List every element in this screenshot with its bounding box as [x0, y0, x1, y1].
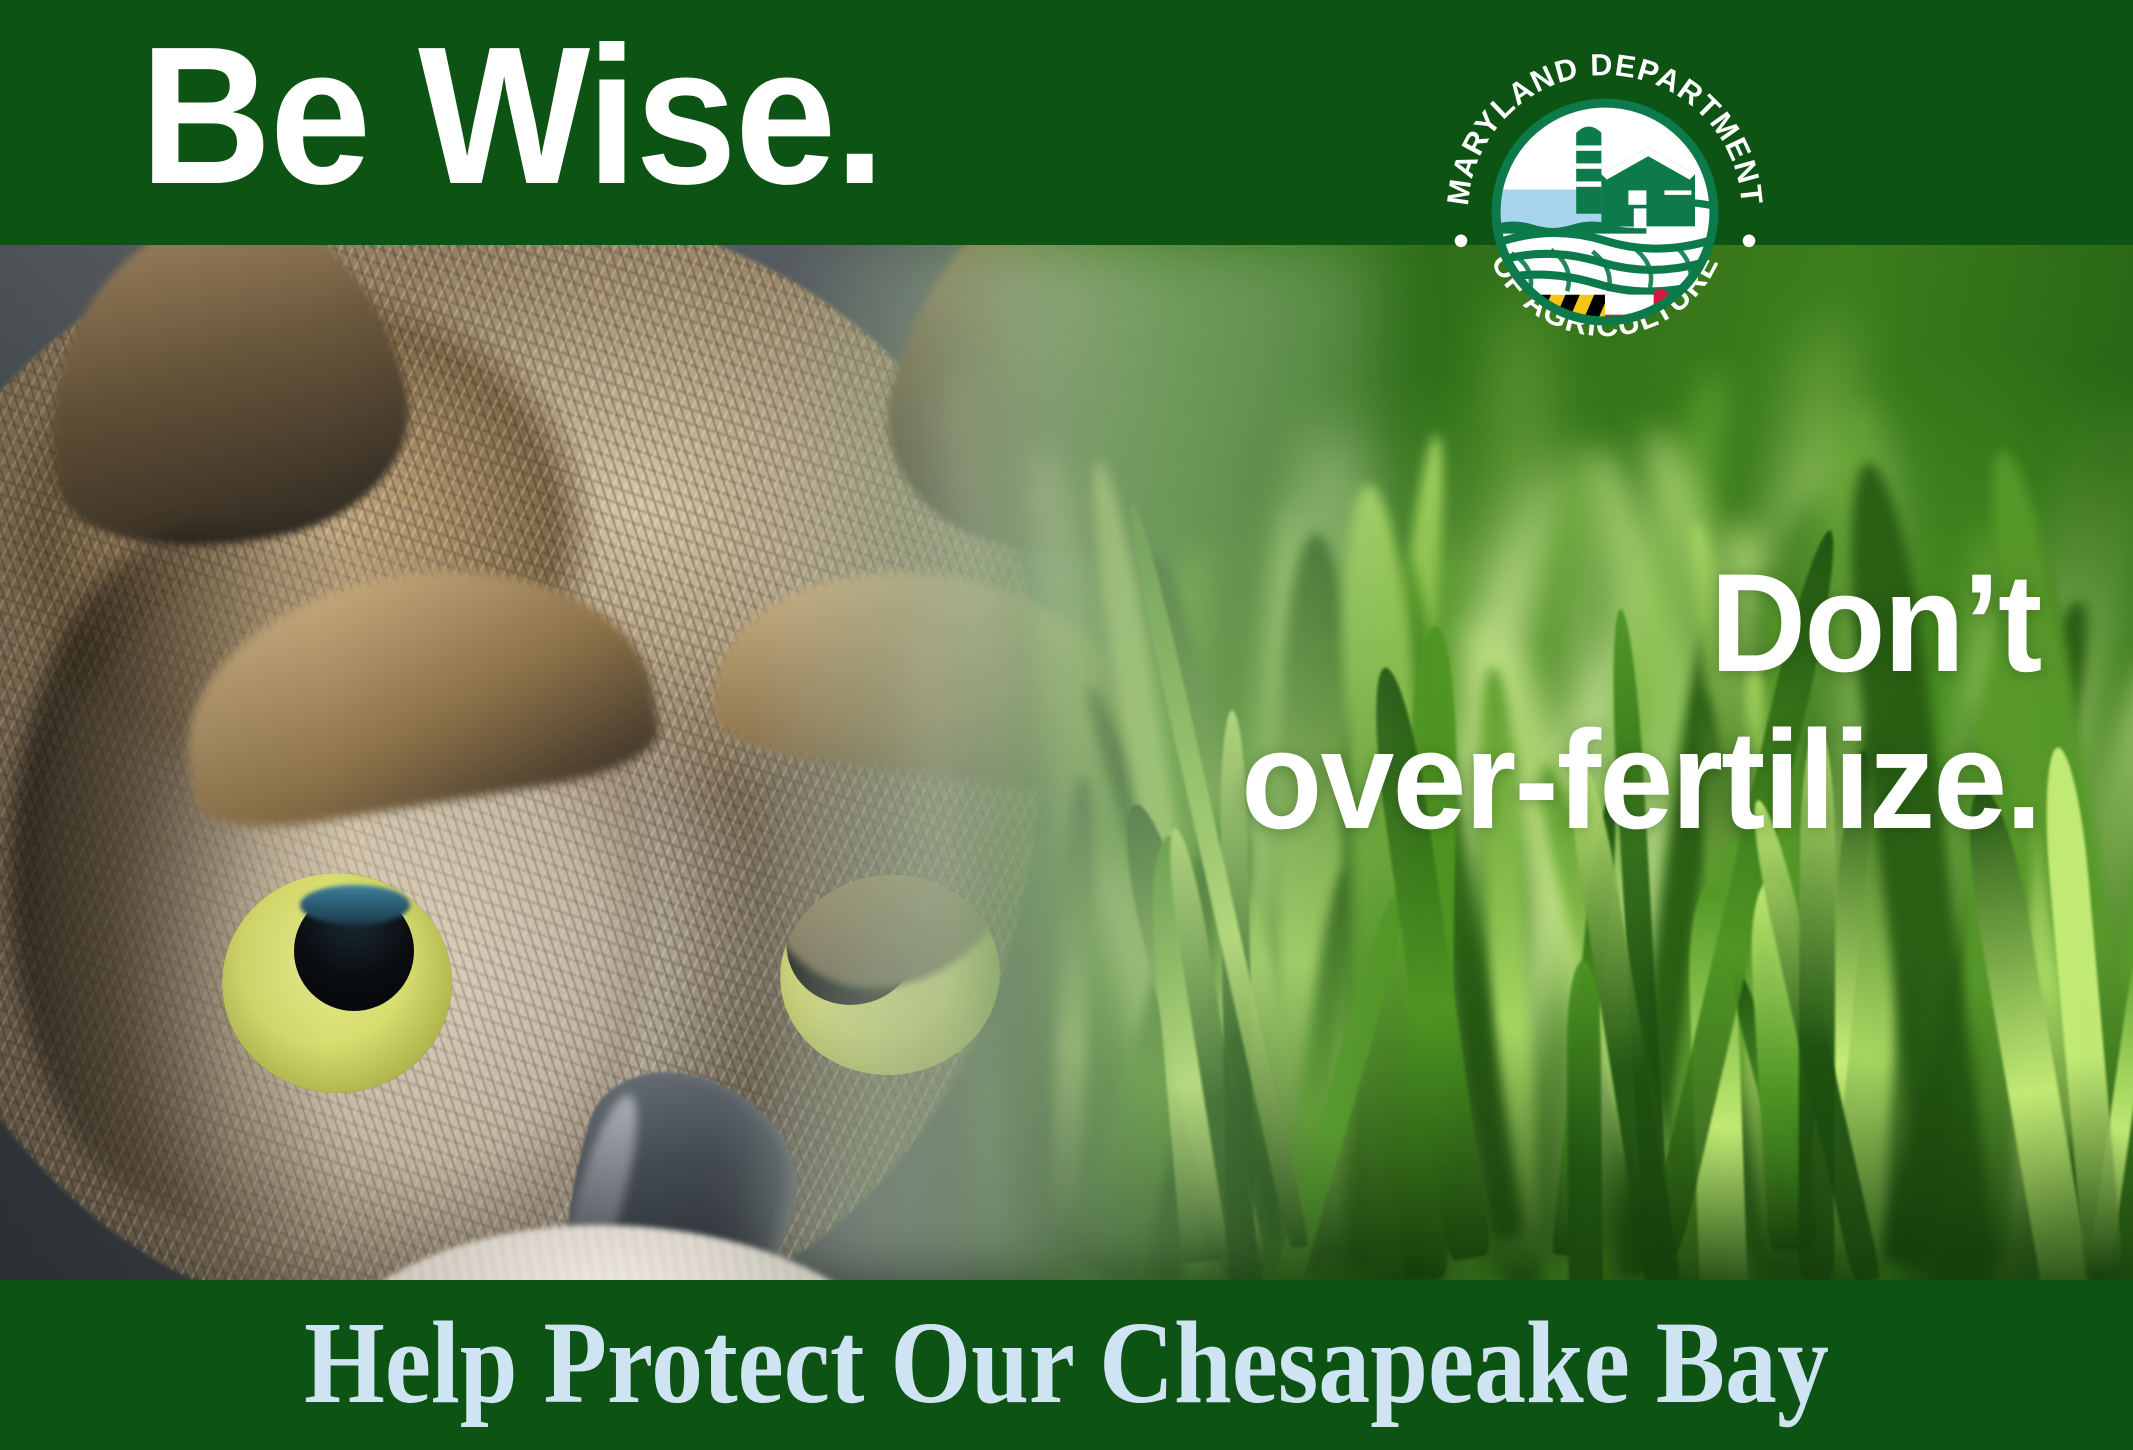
mda-seal-svg: MARYLAND DEPARTMENT OF AGRICULTURE: [1425, 32, 1785, 392]
seal-silo: [1576, 127, 1601, 214]
poster: Be Wise. Don’t over-fertilize. Help Prot…: [0, 0, 2133, 1450]
tagline-line-2: over-fertilize.: [1241, 702, 2040, 859]
tagline-line-1: Don’t: [1241, 545, 2040, 702]
page-title: Be Wise.: [140, 18, 883, 214]
grass-blade: [1566, 960, 1603, 1280]
seal-dot-right: [1743, 235, 1756, 248]
mda-seal-logo: MARYLAND DEPARTMENT OF AGRICULTURE: [1425, 32, 1785, 392]
seal-dot-left: [1455, 235, 1468, 248]
tagline: Don’t over-fertilize.: [1241, 545, 2040, 859]
footer-slogan: Help Protect Our Chesapeake Bay: [128, 1283, 2005, 1442]
